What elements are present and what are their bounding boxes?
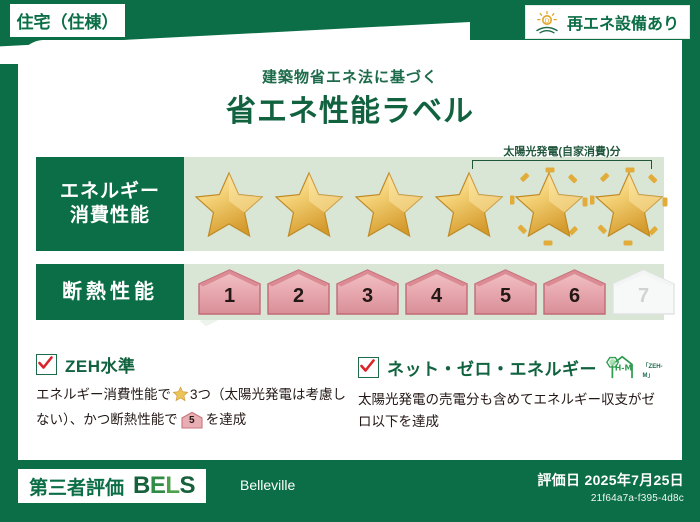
energy-label-line1: エネルギー: [60, 180, 160, 204]
checkbox-checked-icon: [358, 357, 379, 378]
record-id: 21f64a7a-f395-4d8c: [537, 493, 684, 504]
inline-house-badge: 5: [180, 411, 204, 429]
footer-band: 第三者評価 BELS Belleville 評価日 2025年7月25日 21f…: [0, 460, 700, 522]
star-filled: [270, 159, 348, 249]
criterion-zeh-body-pre: エネルギー消費性能で: [36, 387, 171, 402]
house-level-on: 6: [541, 268, 608, 316]
house-level-value: 7: [610, 268, 677, 316]
sun-icon: D: [534, 10, 560, 34]
house-level-list: 1234567: [184, 268, 677, 316]
zeh-m-logo: H-M 「ZEH-M」: [603, 352, 669, 382]
bels-logo: BELS: [133, 472, 195, 500]
evaluation-date-value: 2025年7月25日: [584, 472, 684, 488]
house-level-value: 2: [265, 268, 332, 316]
insulation-performance-label-key: 断熱性能: [36, 264, 184, 320]
house-level-value: 4: [403, 268, 470, 316]
zeh-m-logo-tag: 「ZEH-M」: [643, 361, 669, 382]
house-level-value: 1: [196, 268, 263, 316]
criterion-nze-title: ネット・ゼロ・エネルギー: [387, 355, 597, 380]
star-solar: [510, 159, 588, 249]
evaluation-meta: 評価日 2025年7月25日 21f64a7a-f395-4d8c: [537, 470, 684, 504]
energy-performance-label: 住宅（住棟） D 再エネ設備あり 建築物省エネ法に基づく 省エネ性能ラベル: [0, 0, 700, 522]
label-title: 省エネ性能ラベル: [0, 86, 700, 130]
bels-letter-e: E: [150, 472, 166, 499]
criterion-zeh-body-post: を達成: [206, 412, 247, 427]
operator-name: Belleville: [240, 477, 295, 493]
solar-bracket: [472, 160, 652, 169]
energy-performance-label-key: エネルギー 消費性能: [36, 157, 184, 251]
energy-performance-row: エネルギー 消費性能: [36, 157, 664, 251]
energy-star-rating: [184, 157, 668, 251]
bels-letter-s: S: [180, 472, 196, 499]
house-level-value: 5: [472, 268, 539, 316]
house-level-off: 7: [610, 268, 677, 316]
label-subtitle: 建築物省エネ法に基づく: [0, 66, 700, 87]
criterion-nze-body: 太陽光発電の売電分も含めてエネルギー収支がゼロ以下を達成: [358, 389, 668, 433]
house-level-on: 1: [196, 268, 263, 316]
star-filled: [190, 159, 268, 249]
criterion-net-zero-energy: ネット・ゼロ・エネルギー H-M 「ZEH-M」 太陽光発電の売電分も含めてエネ…: [358, 352, 668, 433]
evaluation-date: 評価日 2025年7月25日: [537, 470, 684, 490]
bels-letter-b: B: [133, 472, 150, 499]
criterion-zeh-header: ZEH水準: [36, 352, 346, 377]
third-party-eval-label: 第三者評価: [29, 473, 124, 500]
inline-star-icon: [172, 386, 189, 409]
house-level-on: 2: [265, 268, 332, 316]
renewable-equipment-badge: D 再エネ設備あり: [525, 5, 690, 39]
star-solar: [590, 159, 668, 249]
house-level-value: 6: [541, 268, 608, 316]
house-level-value: 3: [334, 268, 401, 316]
solar-annotation: 太陽光発電(自家消費)分: [462, 143, 662, 169]
house-level-on: 5: [472, 268, 539, 316]
building-type-label: 住宅（住棟）: [17, 8, 119, 33]
criterion-zeh: ZEH水準 エネルギー消費性能で3つ（太陽光発電は考慮しない）、かつ断熱性能で5…: [36, 352, 346, 431]
evaluation-date-label: 評価日: [537, 472, 580, 488]
checkbox-checked-icon: [36, 354, 57, 375]
svg-text:D: D: [545, 18, 550, 25]
bels-letter-l: L: [165, 472, 179, 499]
insulation-performance-row: 断熱性能 1234567: [36, 264, 664, 320]
star-filled: [430, 159, 508, 249]
house-level-on: 4: [403, 268, 470, 316]
criterion-zeh-title: ZEH水準: [65, 352, 136, 377]
star-list: [184, 159, 668, 249]
renewable-badge-label: 再エネ設備あり: [567, 10, 679, 34]
solar-annotation-text: 太陽光発電(自家消費)分: [462, 143, 662, 159]
inline-house-badge-value: 5: [180, 411, 204, 429]
star-filled: [350, 159, 428, 249]
building-type-chip: 住宅（住棟）: [10, 4, 125, 37]
house-level-on: 3: [334, 268, 401, 316]
zeh-m-logo-text: H-M: [615, 363, 632, 372]
criterion-zeh-body: エネルギー消費性能で3つ（太陽光発電は考慮しない）、かつ断熱性能で5を達成: [36, 384, 346, 431]
bels-certification-chip: 第三者評価 BELS: [18, 469, 206, 503]
criterion-nze-header: ネット・ゼロ・エネルギー H-M 「ZEH-M」: [358, 352, 668, 382]
insulation-level-scale: 1234567: [184, 264, 677, 320]
energy-label-line2: 消費性能: [70, 204, 150, 228]
